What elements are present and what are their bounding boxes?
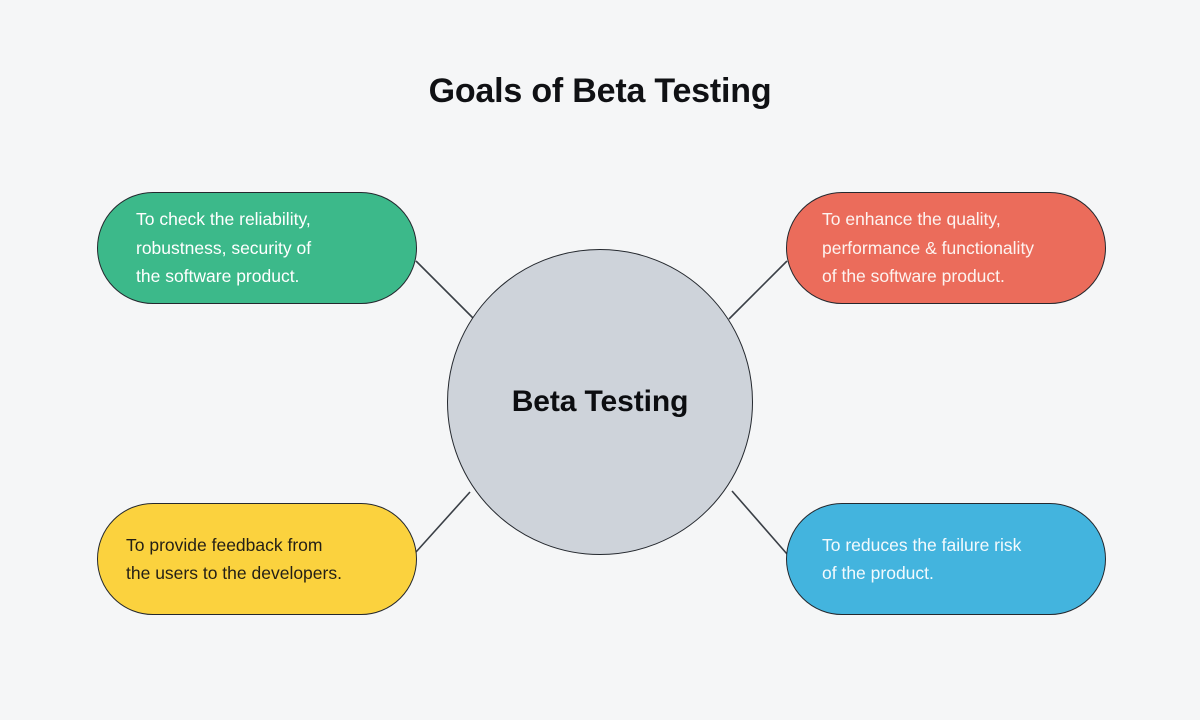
center-node-label: Beta Testing xyxy=(512,385,689,419)
node-top-right-label: To enhance the quality, performance & fu… xyxy=(787,205,1048,291)
diagram-canvas: Goals of Beta Testing To check the relia… xyxy=(0,0,1200,720)
connector-line-top-left xyxy=(416,261,473,318)
node-top-left[interactable]: To check the reliability, robustness, se… xyxy=(97,192,417,304)
node-top-left-label: To check the reliability, robustness, se… xyxy=(98,205,327,291)
node-bottom-left[interactable]: To provide feedback from the users to th… xyxy=(97,503,417,615)
page-title: Goals of Beta Testing xyxy=(0,72,1200,111)
connector-line-top-right xyxy=(729,261,787,319)
connector-line-bottom-right xyxy=(732,491,787,554)
node-bottom-right-label: To reduces the failure risk of the produ… xyxy=(787,531,1035,588)
node-bottom-right[interactable]: To reduces the failure risk of the produ… xyxy=(786,503,1106,615)
node-top-right[interactable]: To enhance the quality, performance & fu… xyxy=(786,192,1106,304)
node-bottom-left-label: To provide feedback from the users to th… xyxy=(98,531,358,588)
connector-line-bottom-left xyxy=(416,492,470,552)
center-node[interactable]: Beta Testing xyxy=(447,249,753,555)
